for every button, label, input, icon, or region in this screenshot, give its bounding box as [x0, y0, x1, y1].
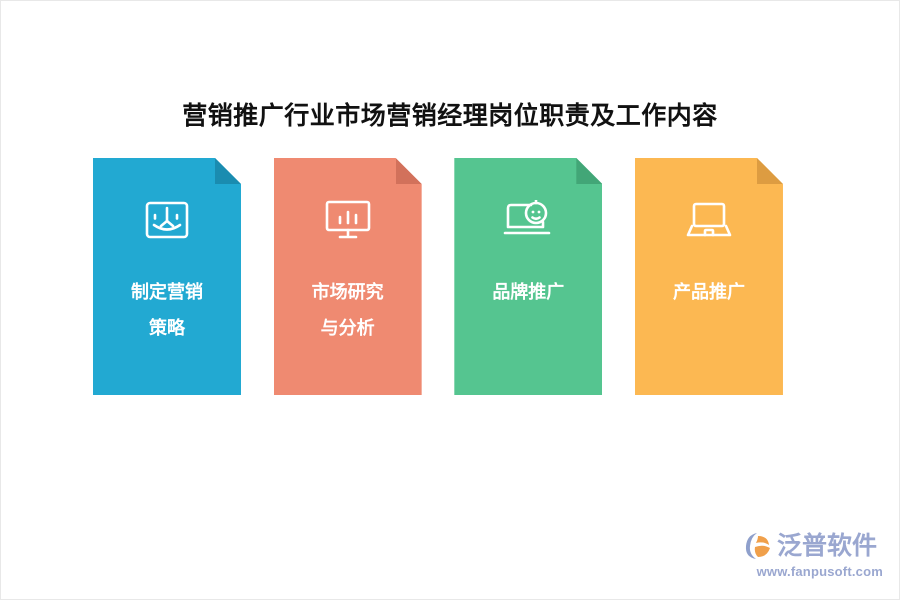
card-product-promotion[interactable]: 产品推广	[635, 158, 783, 395]
watermark-brand: 泛普软件	[777, 531, 877, 561]
card-label: 产品推广	[635, 274, 783, 310]
page-title: 营销推广行业市场营销经理岗位职责及工作内容	[1, 99, 899, 133]
laptop-icon	[682, 196, 736, 244]
infographic-canvas: 营销推广行业市场营销经理岗位职责及工作内容	[1, 1, 899, 599]
card-label: 制定营销 策略	[93, 274, 241, 346]
card-label: 品牌推广	[454, 274, 602, 310]
card-row: 制定营销 策略 市场研究 与分析	[93, 158, 783, 395]
fanpu-logo-icon	[743, 530, 775, 562]
watermark: 泛普软件 www.fanpusoft.com	[743, 529, 883, 585]
card-brand-promotion[interactable]: 品牌推广	[454, 158, 602, 395]
watermark-url: www.fanpusoft.com	[743, 564, 883, 579]
laptop-robot-icon	[501, 196, 555, 244]
card-develop-marketing-strategy[interactable]: 制定营销 策略	[93, 158, 241, 395]
card-market-research-analysis[interactable]: 市场研究 与分析	[274, 158, 422, 395]
card-label: 市场研究 与分析	[274, 274, 422, 346]
finder-face-icon	[140, 196, 194, 244]
monitor-bar-chart-icon	[321, 196, 375, 244]
